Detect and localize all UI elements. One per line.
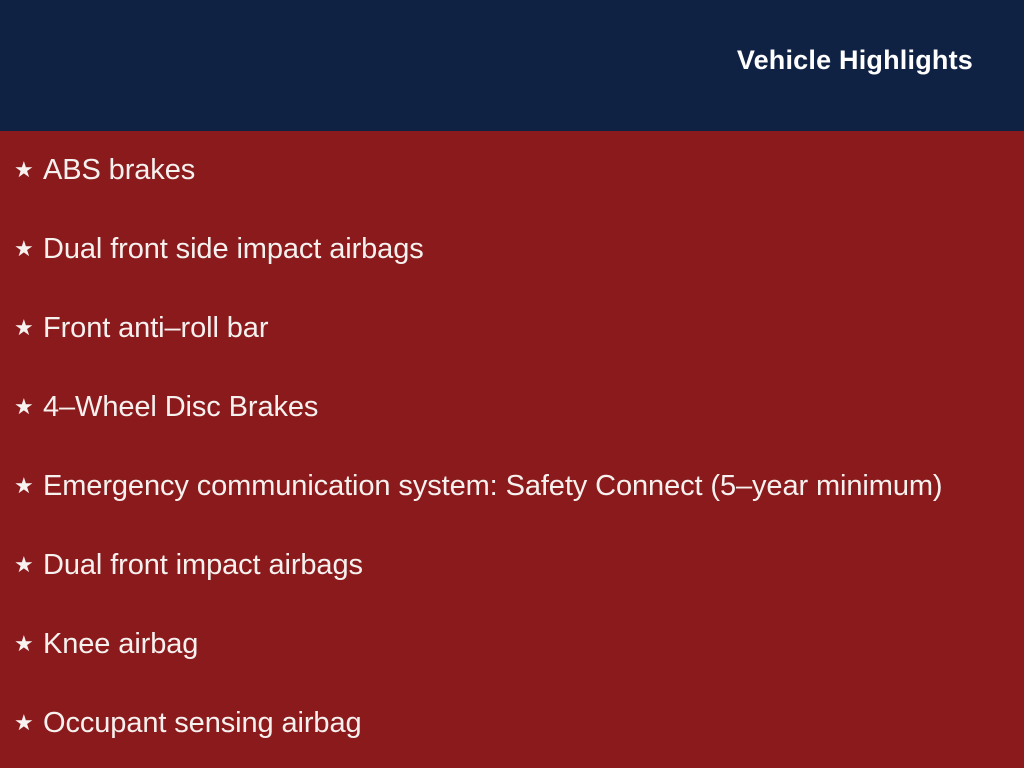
list-item-label: Emergency communication system: Safety C… <box>43 470 1024 503</box>
list-item: ★ Occupant sensing airbag <box>0 684 1024 763</box>
slide-header-band: Vehicle Highlights <box>0 0 1024 131</box>
page-title: Vehicle Highlights <box>737 47 973 74</box>
star-icon: ★ <box>14 554 43 576</box>
star-icon: ★ <box>14 238 43 260</box>
list-item: ★ Emergency communication system: Safety… <box>0 447 1024 526</box>
list-item: ★ 4–Wheel Disc Brakes <box>0 368 1024 447</box>
list-item: ★ Knee airbag <box>0 605 1024 684</box>
list-item: ★ Front anti–roll bar <box>0 289 1024 368</box>
list-item-label: Knee airbag <box>43 628 1024 661</box>
list-item-label: Front anti–roll bar <box>43 312 1024 345</box>
star-icon: ★ <box>14 317 43 339</box>
vehicle-highlights-slide: Vehicle Highlights ★ ABS brakes ★ Dual f… <box>0 0 1024 768</box>
star-icon: ★ <box>14 633 43 655</box>
list-item: ★ Dual front side impact airbags <box>0 210 1024 289</box>
list-item-label: Dual front side impact airbags <box>43 233 1024 266</box>
list-item: ★ Dual front impact airbags <box>0 526 1024 605</box>
star-icon: ★ <box>14 396 43 418</box>
vehicle-highlights-list: ★ ABS brakes ★ Dual front side impact ai… <box>0 131 1024 763</box>
list-item: ★ ABS brakes <box>0 131 1024 210</box>
slide-body: ★ ABS brakes ★ Dual front side impact ai… <box>0 131 1024 768</box>
star-icon: ★ <box>14 475 43 497</box>
list-item-label: Dual front impact airbags <box>43 549 1024 582</box>
list-item-label: Occupant sensing airbag <box>43 707 1024 740</box>
list-item-label: ABS brakes <box>43 154 1024 187</box>
star-icon: ★ <box>14 712 43 734</box>
star-icon: ★ <box>14 159 43 181</box>
list-item-label: 4–Wheel Disc Brakes <box>43 391 1024 424</box>
